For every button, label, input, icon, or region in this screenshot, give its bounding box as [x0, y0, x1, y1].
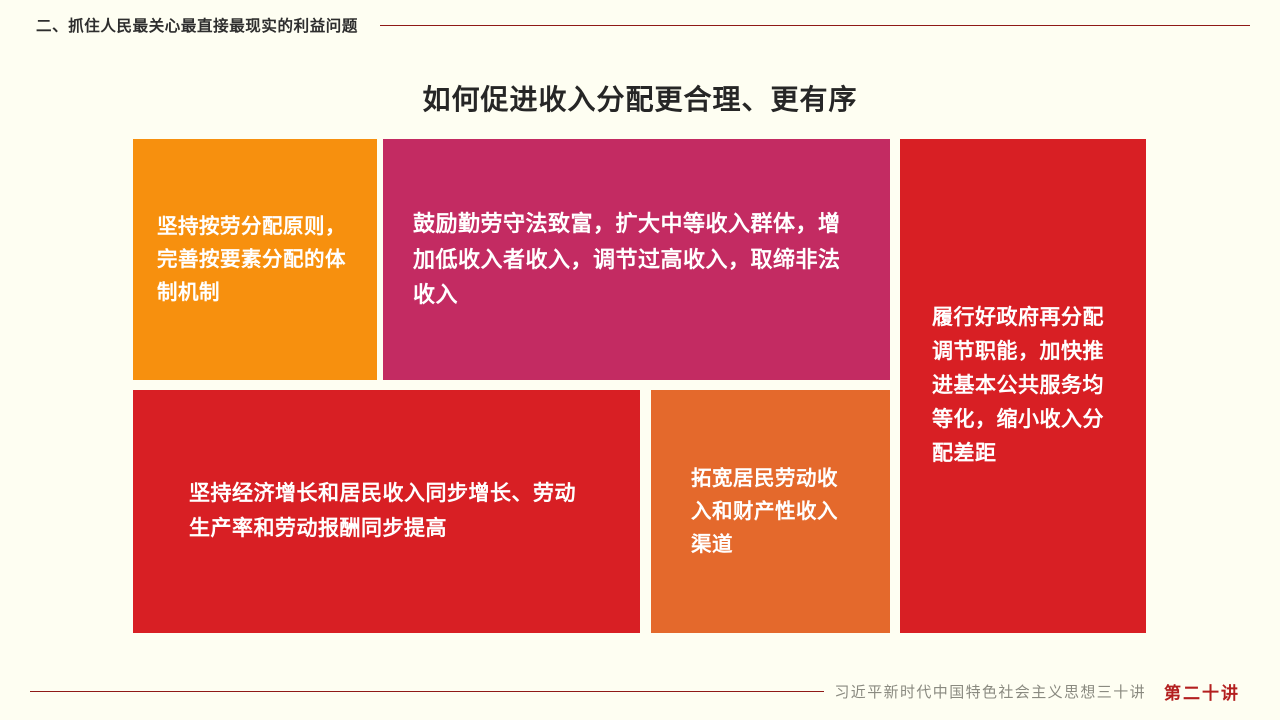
slide-footer: 习近平新时代中国特色社会主义思想三十讲 第二十讲: [0, 662, 1280, 720]
page-title: 如何促进收入分配更合理、更有序: [0, 78, 1280, 118]
card-income-channels: 拓宽居民劳动收入和财产性收入渠道: [651, 390, 890, 633]
card-redistribution: 履行好政府再分配调节职能，加快推进基本公共服务均等化，缩小收入分配差距: [900, 139, 1146, 633]
card-sync-growth-text: 坚持经济增长和居民收入同步增长、劳动生产率和劳动报酬同步提高: [189, 477, 584, 545]
card-lawful-wealth-text: 鼓励勤劳守法致富，扩大中等收入群体，增加低收入者收入，调节过高收入，取缔非法收入: [413, 206, 860, 313]
card-sync-growth: 坚持经济增长和居民收入同步增长、劳动生产率和劳动报酬同步提高: [133, 390, 640, 633]
card-labor-principle: 坚持按劳分配原则，完善按要素分配的体制机制: [133, 139, 377, 380]
card-redistribution-text: 履行好政府再分配调节职能，加快推进基本公共服务均等化，缩小收入分配差距: [932, 301, 1114, 471]
footer-lecture-number: 第二十讲: [1164, 679, 1240, 704]
card-lawful-wealth: 鼓励勤劳守法致富，扩大中等收入群体，增加低收入者收入，调节过高收入，取缔非法收入: [383, 139, 890, 380]
header-divider-rule: [380, 25, 1250, 26]
section-heading: 二、抓住人民最关心最直接最现实的利益问题: [36, 14, 358, 36]
footer-divider-rule: [30, 691, 824, 692]
card-labor-principle-text: 坚持按劳分配原则，完善按要素分配的体制机制: [157, 210, 353, 310]
card-income-channels-text: 拓宽居民劳动收入和财产性收入渠道: [691, 462, 850, 562]
footer-series-title: 习近平新时代中国特色社会主义思想三十讲: [834, 681, 1146, 702]
slide-header: 二、抓住人民最关心最直接最现实的利益问题: [0, 0, 1280, 50]
